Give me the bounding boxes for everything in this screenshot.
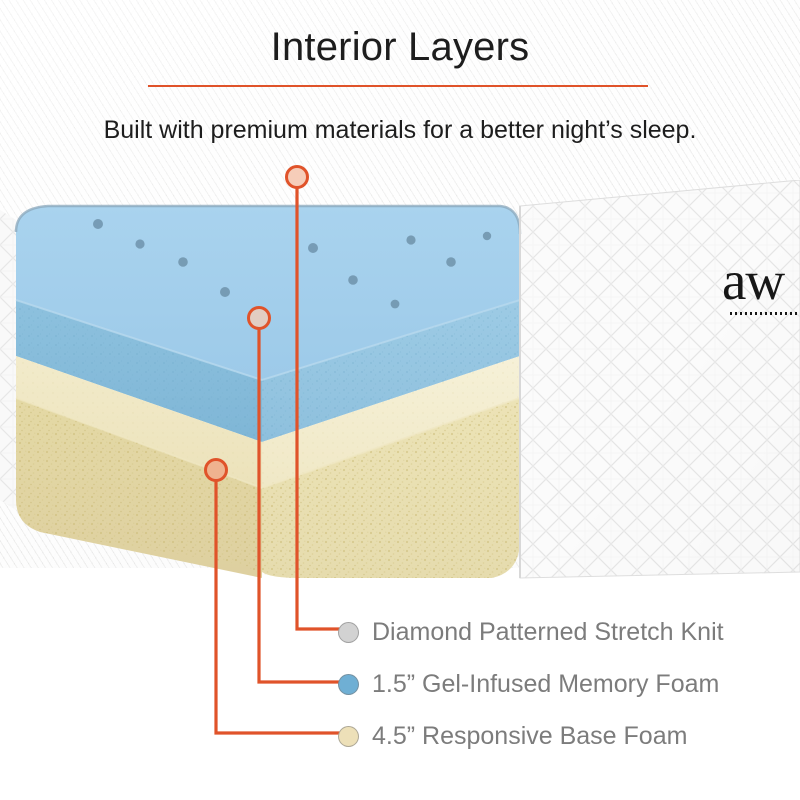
layer-legend: Diamond Patterned Stretch Knit 1.5” Gel-… bbox=[338, 606, 778, 762]
mattress-cover-panel bbox=[520, 180, 800, 578]
brand-underline-dots bbox=[730, 312, 800, 315]
legend-dot-knit bbox=[338, 622, 359, 643]
brand-wordmark: aw bbox=[722, 252, 784, 310]
legend-dot-gel bbox=[338, 674, 359, 695]
legend-label-gel: 1.5” Gel-Infused Memory Foam bbox=[372, 669, 719, 699]
mattress-cover-left-edge bbox=[0, 210, 16, 510]
legend-item-knit[interactable]: Diamond Patterned Stretch Knit bbox=[338, 606, 778, 658]
legend-dot-base bbox=[338, 726, 359, 747]
mattress-cutaway-illustration bbox=[0, 180, 800, 580]
legend-item-base[interactable]: 4.5” Responsive Base Foam bbox=[338, 710, 778, 762]
legend-item-gel[interactable]: 1.5” Gel-Infused Memory Foam bbox=[338, 658, 778, 710]
title-divider-rule bbox=[148, 85, 648, 87]
legend-label-knit: Diamond Patterned Stretch Knit bbox=[372, 617, 724, 647]
header: Interior Layers bbox=[0, 0, 800, 72]
page-title: Interior Layers bbox=[0, 0, 800, 72]
interior-layers-infographic: aw Interior Layers Built with premium ma… bbox=[0, 0, 800, 800]
legend-label-base: 4.5” Responsive Base Foam bbox=[372, 721, 687, 751]
page-subtitle: Built with premium materials for a bette… bbox=[0, 113, 800, 147]
